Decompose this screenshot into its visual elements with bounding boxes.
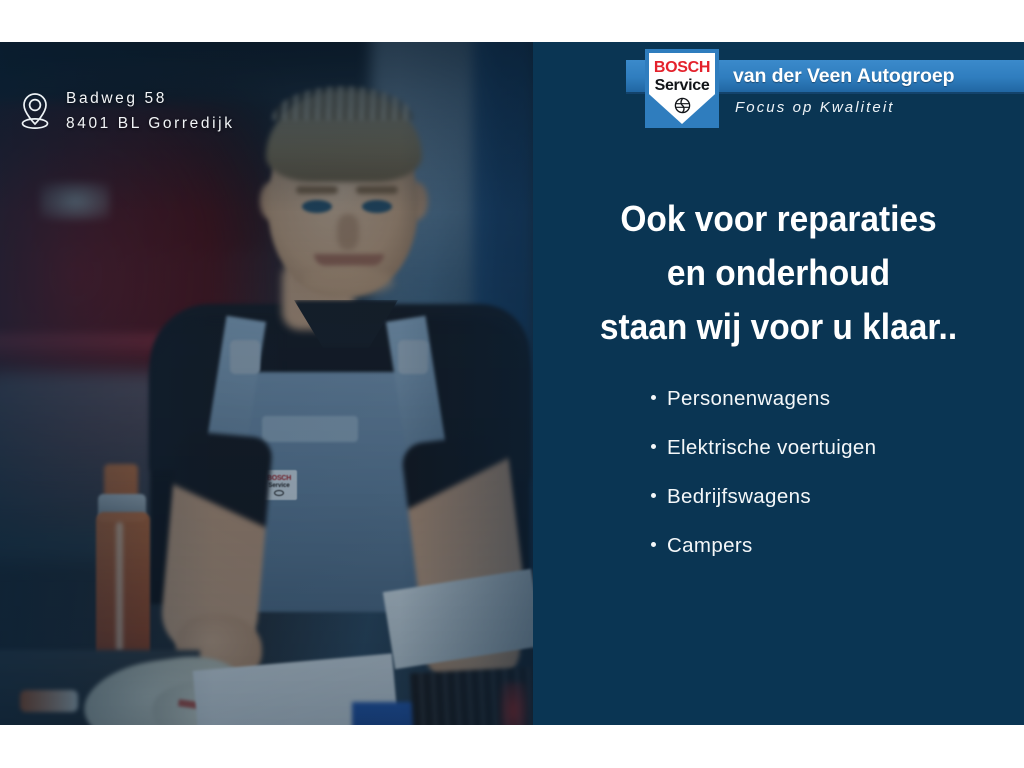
service-wordmark: Service	[655, 77, 710, 94]
promo-banner: BOSCH Service	[0, 42, 1024, 725]
bullet-dot-icon	[651, 493, 656, 498]
info-panel: BOSCH Service van der Veen Autogroep Foc…	[533, 42, 1024, 725]
bullet-dot-icon	[651, 395, 656, 400]
company-tagline: Focus op Kwaliteit	[735, 97, 895, 119]
services-list: Personenwagens Elektrische voertuigen Be…	[651, 387, 1024, 583]
address-line-2: 8401 BL Gorredijk	[66, 111, 235, 136]
bosch-armature-icon	[674, 97, 691, 119]
list-item: Personenwagens	[651, 387, 1024, 436]
location-pin-icon	[18, 90, 52, 132]
list-item: Bedrijfswagens	[651, 485, 1024, 534]
mechanic-photo: BOSCH Service	[0, 42, 533, 725]
bullet-dot-icon	[651, 542, 656, 547]
list-item: Campers	[651, 534, 1024, 583]
photo-scene: BOSCH Service	[0, 42, 533, 725]
bosch-wordmark: BOSCH	[654, 60, 710, 76]
list-item: Elektrische voertuigen	[651, 436, 1024, 485]
company-name: van der Veen Autogroep	[733, 63, 954, 90]
headline-line-1: Ook voor reparaties	[550, 192, 1007, 246]
address-text: Badweg 58 8401 BL Gorredijk	[66, 86, 235, 136]
service-label: Personenwagens	[667, 387, 830, 411]
address-block: Badweg 58 8401 BL Gorredijk	[18, 86, 235, 136]
headline-line-3: staan wij voor u klaar..	[550, 300, 1007, 354]
address-line-1: Badweg 58	[66, 86, 235, 111]
bullet-dot-icon	[651, 444, 656, 449]
service-label: Campers	[667, 534, 753, 558]
service-label: Elektrische voertuigen	[667, 436, 876, 460]
headline: Ook voor reparaties en onderhoud staan w…	[550, 192, 1007, 354]
service-label: Bedrijfswagens	[667, 485, 811, 509]
bosch-service-logo: BOSCH Service	[645, 49, 719, 128]
bosch-logo-shield: BOSCH Service	[649, 53, 715, 124]
headline-line-2: en onderhoud	[550, 246, 1007, 300]
